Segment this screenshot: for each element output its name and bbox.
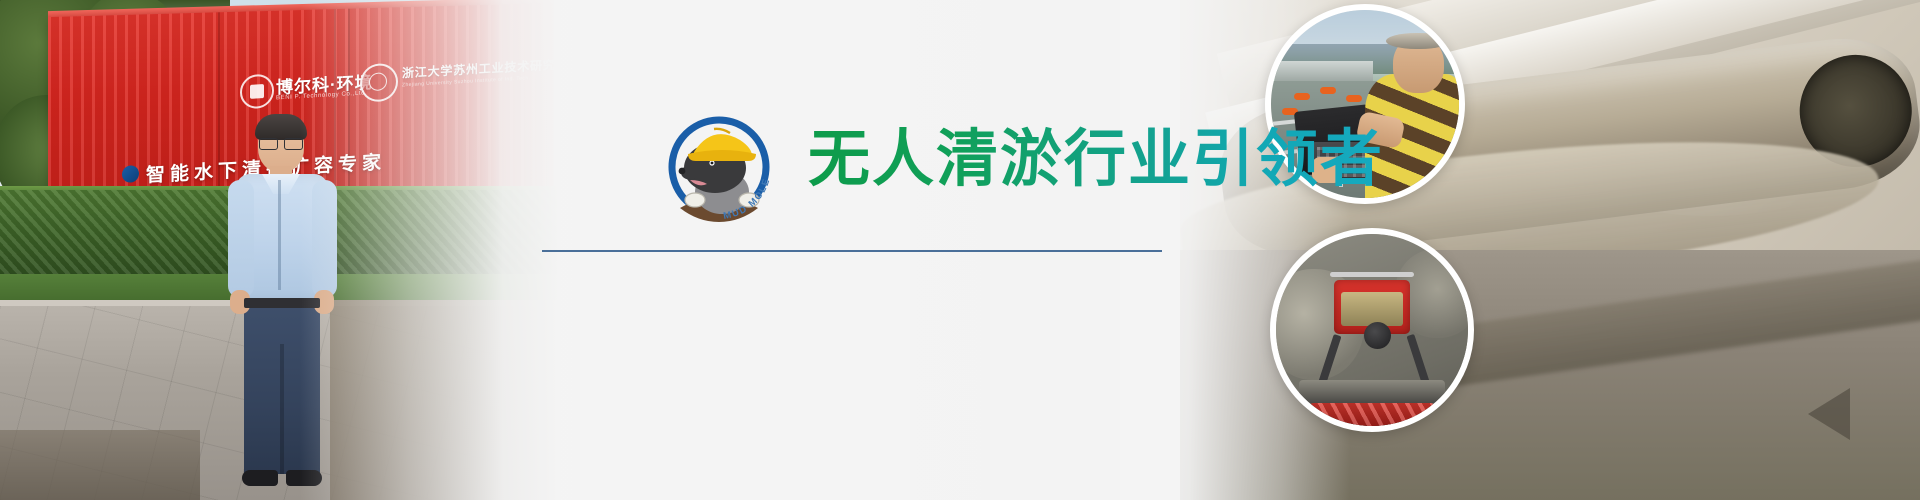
- left-fade-overlay: [300, 0, 560, 500]
- slogan-bullet-icon: [122, 165, 139, 183]
- company-mark-icon: [240, 74, 274, 110]
- c1-operator-hat: [1386, 33, 1450, 50]
- banner-divider: [542, 250, 1162, 252]
- c2-robot-body: [1341, 292, 1402, 327]
- hero-banner: 博尔科·环境 BENI P. Technology Co.,Ltd. 浙江大学苏…: [0, 0, 1920, 500]
- flow-arrow-icon: [1808, 388, 1850, 440]
- left-arm: [228, 180, 254, 298]
- c2-top-bar: [1330, 272, 1414, 277]
- shirt-placket: [278, 180, 281, 290]
- mud-mole-logo: MUD MOLE: [660, 108, 778, 226]
- c2-auger: [1307, 403, 1438, 430]
- center-content: MUD MOLE 无人清淤行业引领者: [660, 0, 1180, 500]
- left-shoe: [242, 470, 278, 486]
- banner-headline: 无人清淤行业引领者: [808, 124, 1384, 196]
- dirt-patch-2: [0, 430, 200, 500]
- c1-float-2: [1320, 87, 1336, 94]
- glasses-icon: [259, 138, 303, 148]
- left-photo: 博尔科·环境 BENI P. Technology Co.,Ltd. 浙江大学苏…: [0, 0, 560, 500]
- dredging-robot-photo: [1270, 228, 1474, 432]
- c1-float-1: [1294, 93, 1310, 100]
- c1-buildings: [1275, 61, 1373, 84]
- c1-float-3: [1346, 95, 1362, 102]
